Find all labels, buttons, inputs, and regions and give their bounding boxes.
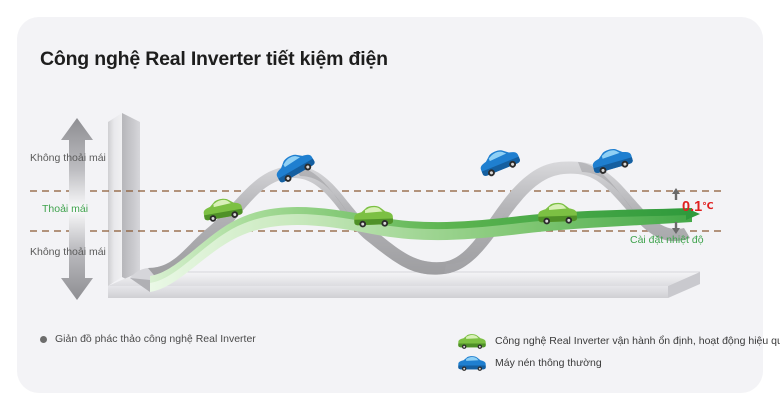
legend-label-real-inverter: Công nghệ Real Inverter vận hành ổn định… bbox=[495, 335, 780, 347]
axis-label-comfortable: Thoải mái bbox=[42, 203, 88, 215]
footnote-text: Giản đồ phác thảo công nghệ Real Inverte… bbox=[55, 333, 256, 345]
footnote-bullet-icon bbox=[40, 336, 47, 343]
axis-floor-3d bbox=[108, 272, 700, 298]
legend-item-real-inverter: Công nghệ Real Inverter vận hành ổn định… bbox=[457, 330, 780, 352]
legend: Công nghệ Real Inverter vận hành ổn định… bbox=[457, 330, 780, 374]
green-car-icon bbox=[354, 205, 393, 227]
delta-number: 0.1 bbox=[682, 199, 702, 215]
setpoint-label: Cài đặt nhiệt độ bbox=[630, 234, 704, 246]
green-car-icon bbox=[457, 333, 487, 350]
delta-unit: ℃ bbox=[702, 201, 714, 212]
axis-label-uncomfortable-bottom: Không thoải mái bbox=[30, 246, 106, 258]
blue-car-icon bbox=[457, 355, 487, 372]
blue-car-icon bbox=[590, 144, 634, 176]
green-car-icon bbox=[538, 202, 577, 224]
infographic-root: Công nghệ Real Inverter tiết kiệm điện bbox=[0, 0, 780, 410]
legend-item-conventional: Máy nén thông thường bbox=[457, 352, 780, 374]
blue-car-icon bbox=[477, 144, 522, 179]
axis-wall-3d bbox=[108, 113, 140, 286]
temperature-delta-value: 0.1℃ bbox=[682, 199, 714, 215]
footnote: Giản đồ phác thảo công nghệ Real Inverte… bbox=[40, 333, 256, 345]
axis-label-uncomfortable-top: Không thoải mái bbox=[30, 152, 106, 164]
legend-label-conventional: Máy nén thông thường bbox=[495, 357, 602, 369]
